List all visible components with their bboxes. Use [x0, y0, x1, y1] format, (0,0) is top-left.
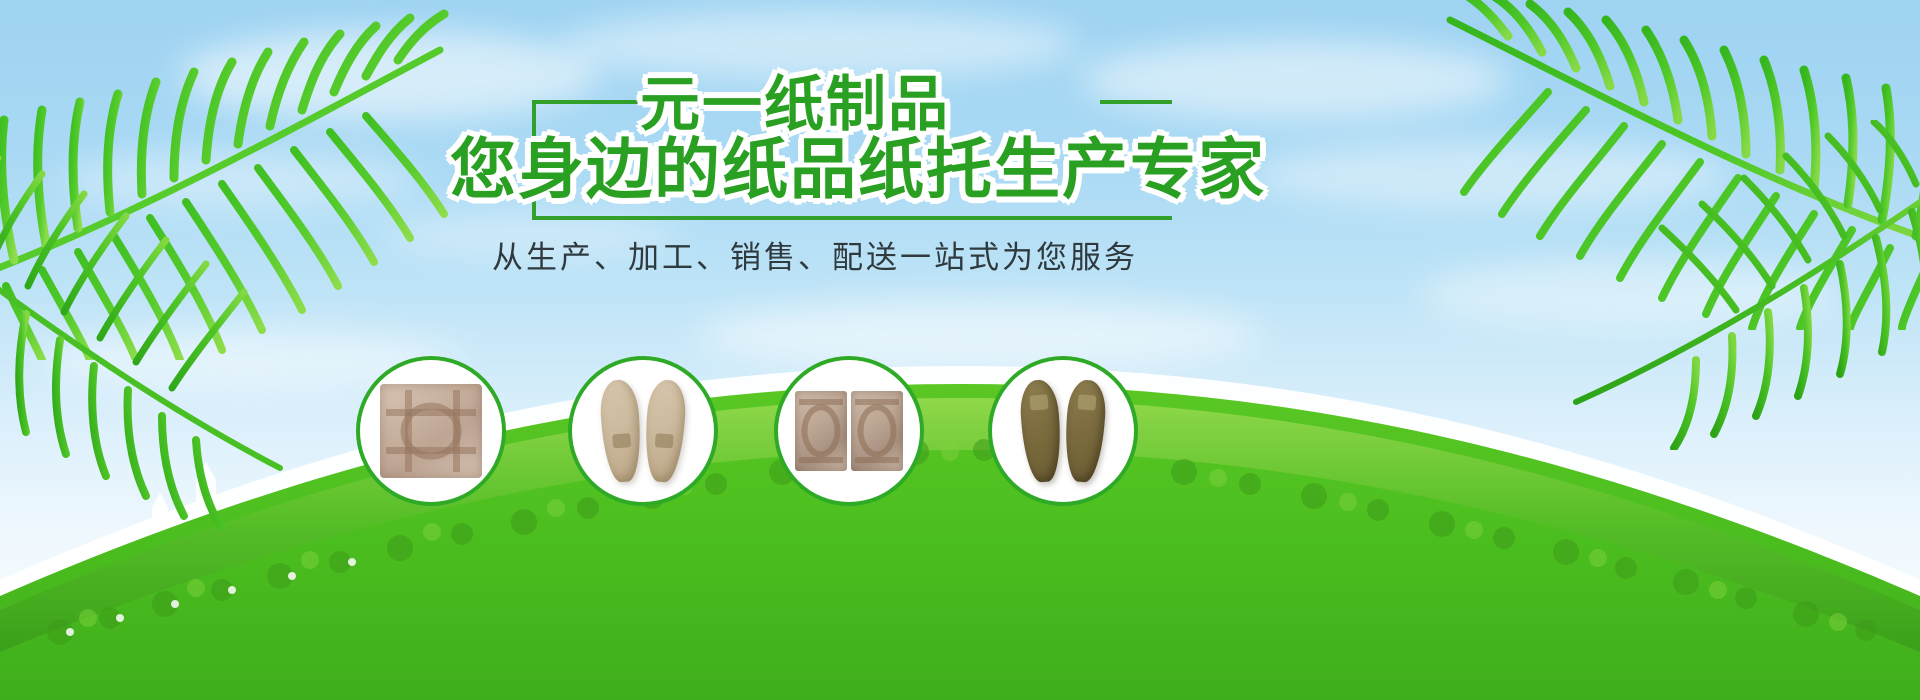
product-image-insole-pair-dark	[1008, 376, 1119, 487]
insole-shape-dark-left	[1019, 379, 1064, 483]
product-circle-3[interactable]	[774, 356, 924, 506]
frame-bottom-rule	[532, 216, 1172, 220]
product-circle-1[interactable]	[356, 356, 506, 506]
pulp-tray-half-right	[851, 391, 903, 471]
cloud-decoration	[1420, 260, 1840, 330]
cloud-decoration	[60, 150, 420, 210]
cloud-decoration	[700, 300, 1260, 370]
promo-banner: 元一纸制品 您身边的纸品纸托生产专家 从生产、加工、销售、配送一站式为您服务	[0, 0, 1920, 700]
headline-block: 元一纸制品 您身边的纸品纸托生产专家	[440, 78, 1170, 228]
palm-leaf-icon	[0, 0, 470, 360]
product-circle-4[interactable]	[988, 356, 1138, 506]
brand-headline: 元一纸制品	[640, 74, 950, 136]
green-hill	[0, 280, 1920, 700]
palm-leaf-icon	[1560, 120, 1920, 450]
subtitle-text: 从生产、加工、销售、配送一站式为您服务	[485, 238, 1145, 278]
palm-leaf-icon	[1420, 0, 1920, 330]
pulp-tray-half-left	[795, 391, 847, 471]
product-circle-2[interactable]	[568, 356, 718, 506]
insole-shape-dark-right	[1063, 379, 1108, 483]
cloud-decoration	[1250, 140, 1730, 210]
insole-shape-right	[643, 379, 688, 483]
product-image-pulp-tray	[376, 376, 487, 487]
palm-leaf-icon	[0, 150, 300, 530]
insole-shape-left	[599, 379, 644, 483]
product-image-dual-tray	[794, 376, 905, 487]
frame-top-rule-right	[1100, 100, 1172, 104]
city-skyline-silhouette	[0, 240, 1920, 700]
product-image-insole-pair	[588, 376, 699, 487]
main-headline: 您身边的纸品纸托生产专家	[450, 136, 1266, 204]
pulp-tray-shape	[380, 384, 482, 477]
